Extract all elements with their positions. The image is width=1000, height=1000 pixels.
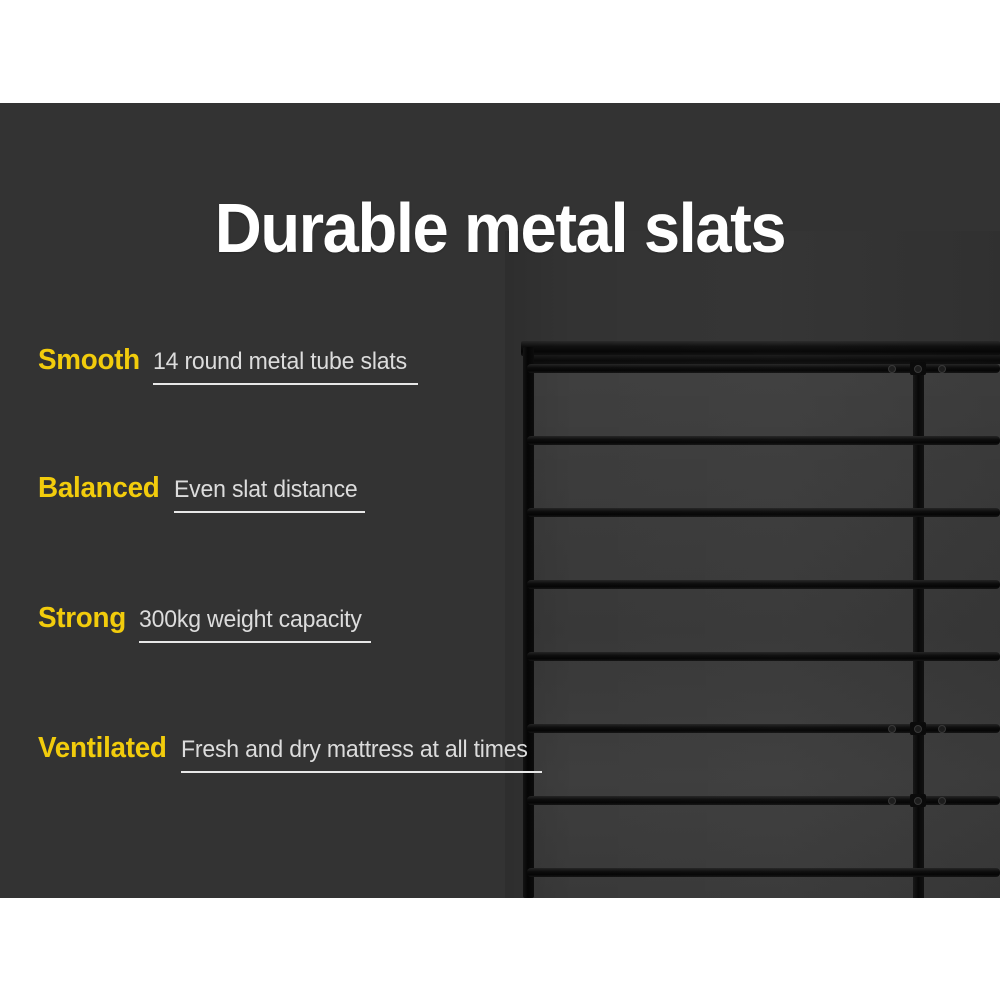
frame-top-rail (521, 341, 1000, 356)
slat-bolt-connector (886, 722, 950, 735)
bolt-icon (914, 725, 922, 733)
bolt-icon (914, 365, 922, 373)
product-photo-bed-frame (505, 231, 1000, 898)
metal-slat (527, 868, 1000, 877)
mattress-support-panel (525, 343, 1000, 898)
metal-slat (527, 436, 1000, 445)
feature-description-smooth: 14 round metal tube slats (153, 348, 407, 376)
feature-underline-smooth: 14 round metal tube slats (153, 348, 418, 385)
slat-bolt-connector (886, 362, 950, 375)
feature-key-balanced: Balanced (38, 471, 159, 505)
bolt-icon (888, 797, 896, 805)
bolt-icon (888, 725, 896, 733)
feature-row-ventilated: Ventilated Fresh and dry mattress at all… (38, 731, 542, 773)
feature-description-strong: 300kg weight capacity (139, 606, 362, 634)
page-title: Durable metal slats (35, 188, 965, 268)
feature-key-ventilated: Ventilated (38, 731, 167, 765)
feature-underline-strong: 300kg weight capacity (139, 606, 371, 643)
feature-row-smooth: Smooth 14 round metal tube slats (38, 343, 418, 385)
dark-content-panel: Durable metal slats Smooth 14 round meta… (0, 103, 1000, 898)
feature-description-ventilated: Fresh and dry mattress at all times (181, 736, 528, 764)
metal-slat (527, 652, 1000, 661)
feature-key-strong: Strong (38, 601, 126, 635)
infographic-canvas: Durable metal slats Smooth 14 round meta… (0, 0, 1000, 1000)
feature-row-balanced: Balanced Even slat distance (38, 471, 365, 513)
feature-description-balanced: Even slat distance (174, 476, 358, 504)
metal-slat (527, 508, 1000, 517)
frame-left-side-rail (523, 347, 534, 898)
slat-bolt-connector (886, 794, 950, 807)
feature-row-strong: Strong 300kg weight capacity (38, 601, 371, 643)
bolt-icon (914, 797, 922, 805)
metal-slat (527, 580, 1000, 589)
bolt-icon (938, 365, 946, 373)
bolt-icon (938, 725, 946, 733)
feature-key-smooth: Smooth (38, 343, 140, 377)
feature-underline-ventilated: Fresh and dry mattress at all times (181, 736, 542, 773)
bolt-icon (888, 365, 896, 373)
feature-underline-balanced: Even slat distance (174, 476, 365, 513)
bolt-icon (938, 797, 946, 805)
